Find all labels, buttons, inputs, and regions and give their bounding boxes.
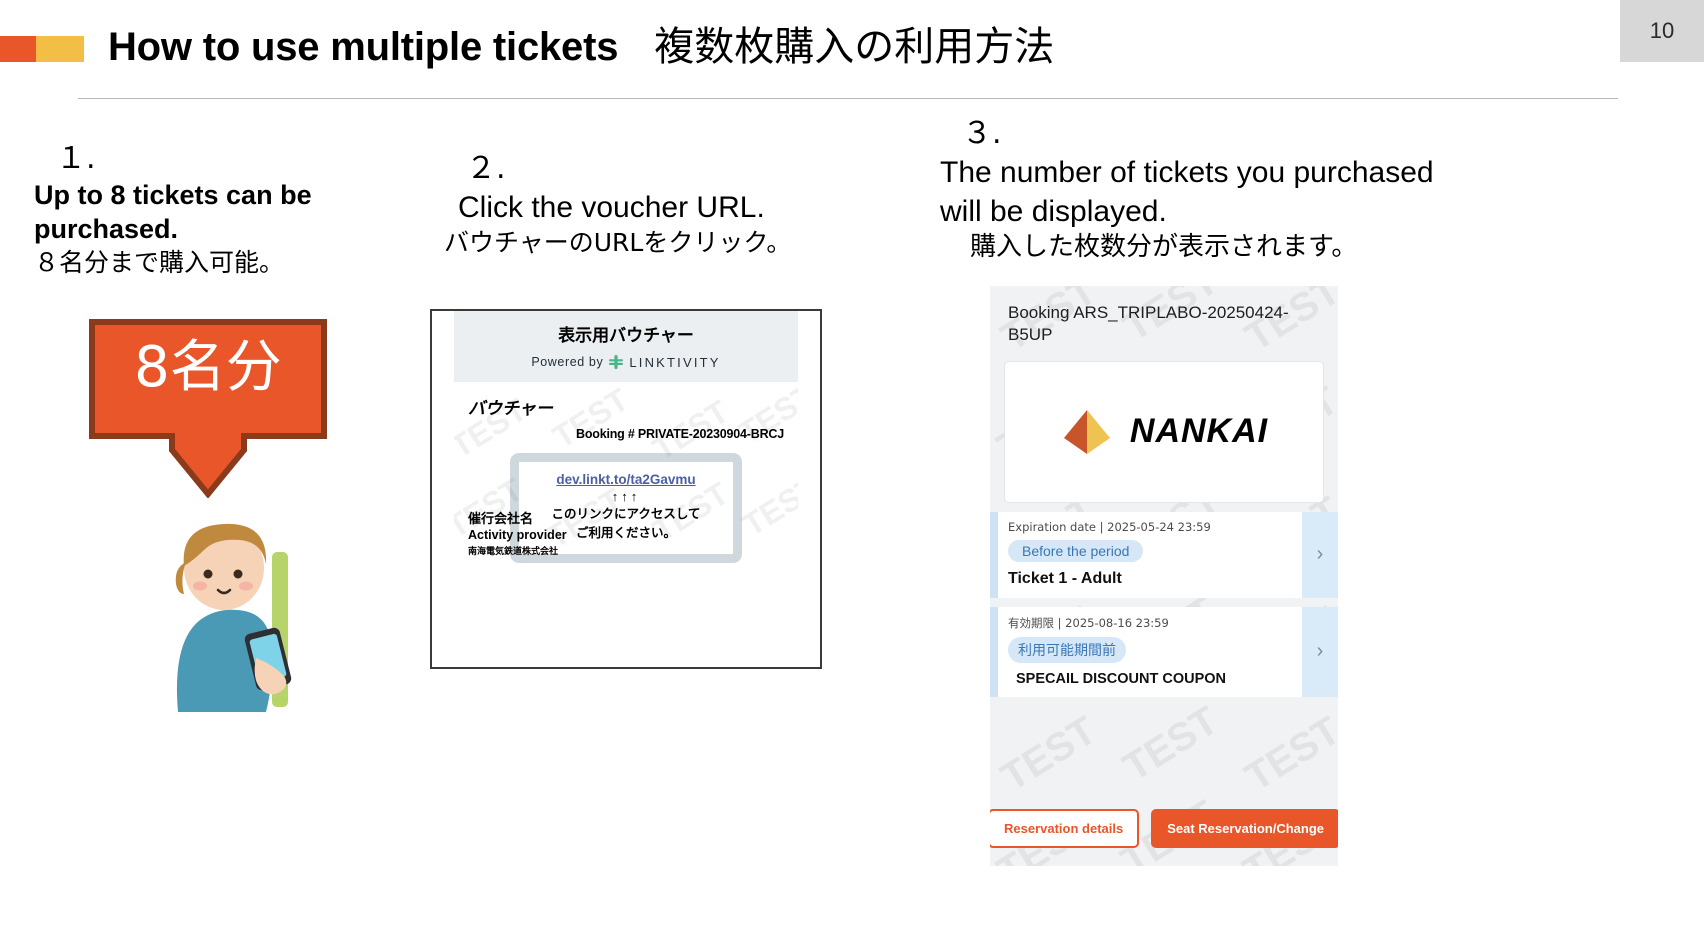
app-screenshot: TEST TEST TEST TEST TEST TEST TEST TEST … [990,286,1338,866]
step-2-text-english: Click the voucher URL. [458,188,864,227]
ticket-expiry: Expiration date | 2025-05-24 23:59 [1008,520,1292,534]
header-divider [78,98,1618,99]
ticket-expiry: 有効期限 | 2025-08-16 23:59 [1008,615,1292,631]
chevron-right-icon[interactable]: › [1302,512,1338,598]
provider-label-japanese: 催行会社名 [468,508,567,527]
nankai-logo-icon [1060,408,1114,456]
provider-name: 南海電気鉄道株式会社 [468,544,567,557]
seat-reservation-change-button[interactable]: Seat Reservation/Change [1151,809,1338,848]
voucher-booking-number: Booking # PRIVATE-20230904-BRCJ [468,427,784,441]
linktivity-wordmark: LINKTIVITY [629,355,720,370]
decoration-square-orange [0,36,36,62]
step-1-text-japanese: ８名分まで購入可能。 [34,247,434,280]
ticket-title: SPECAIL DISCOUNT COUPON [1016,671,1292,687]
status-badge: Before the period [1008,540,1143,562]
chevron-right-icon[interactable]: › [1302,607,1338,697]
header-decoration [0,36,84,62]
step-3-number: ３. [962,115,1460,153]
voucher-body: TEST TEST TEST TEST TEST TEST TEST TEST … [454,382,798,563]
step-2-number: ２. [466,150,864,188]
step-3-block: ３. The number of tickets you purchased w… [940,115,1460,264]
ticket-content: Expiration date | 2025-05-24 23:59 Befor… [998,512,1302,598]
reservation-details-button[interactable]: Reservation details [990,809,1139,848]
page-title-english: How to use multiple tickets [108,22,618,72]
person-with-phone-illustration [138,512,338,722]
step-2-text-japanese: バウチャーのURLをクリック。 [444,227,864,260]
decoration-square-yellow [36,36,84,62]
powered-by-label: Powered by [531,355,603,369]
voucher-header-title: 表示用バウチャー [454,321,798,346]
status-badge: 利用可能期間前 [1008,637,1126,663]
step-3-text-english: The number of tickets you purchased will… [940,153,1460,231]
voucher-url-link[interactable]: dev.linkt.to/ta2Gavmu [525,472,727,487]
page-number-badge: 10 [1620,0,1704,62]
booking-id-label: Booking ARS_TRIPLABO-20250424-B5UP [990,286,1338,353]
list-item[interactable]: 有効期限 | 2025-08-16 23:59 利用可能期間前 SPECAIL … [990,607,1338,697]
slide-header: How to use multiple tickets 複数枚購入の利用方法 1… [0,0,1704,110]
linktivity-logo-icon [608,354,624,370]
step-1-number: １. [56,140,434,178]
ticket-title: Ticket 1 - Adult [1008,570,1292,588]
step-1-text-english: Up to 8 tickets can be purchased. [34,178,434,247]
voucher-page: 表示用バウチャー Powered by LINKTIVITY TEST TEST… [454,311,798,667]
page-title: How to use multiple tickets 複数枚購入の利用方法 [108,14,1054,72]
callout-arrow-8-tickets: 8名分 [88,318,328,498]
voucher-screenshot: 表示用バウチャー Powered by LINKTIVITY TEST TEST… [430,309,822,669]
brand-logo-card: NANKAI [1004,361,1324,503]
page-title-japanese: 複数枚購入の利用方法 [654,14,1054,72]
step-2-block: ２. Click the voucher URL. バウチャーのURLをクリック… [444,150,864,259]
ticket-accent-bar [990,512,998,598]
app-action-bar: Reservation details Seat Reservation/Cha… [990,809,1338,848]
voucher-provider-block: 催行会社名 Activity provider 南海電気鉄道株式会社 [468,508,567,557]
ticket-content: 有効期限 | 2025-08-16 23:59 利用可能期間前 SPECAIL … [998,607,1302,697]
voucher-section-title: バウチャー [468,394,784,419]
step-3-text-japanese: 購入した枚数分が表示されます。 [970,231,1460,265]
up-arrows-icon: ↑↑↑ [525,489,727,504]
step-1-block: １. Up to 8 tickets can be purchased. ８名分… [34,140,434,279]
list-item[interactable]: Expiration date | 2025-05-24 23:59 Befor… [990,512,1338,598]
brand-name: NANKAI [1130,412,1268,451]
ticket-accent-bar [990,607,998,697]
voucher-powered-by: Powered by LINKTIVITY [454,354,798,370]
callout-label: 8名分 [88,340,328,396]
voucher-header: 表示用バウチャー Powered by LINKTIVITY [454,311,798,382]
provider-label-english: Activity provider [468,528,567,542]
